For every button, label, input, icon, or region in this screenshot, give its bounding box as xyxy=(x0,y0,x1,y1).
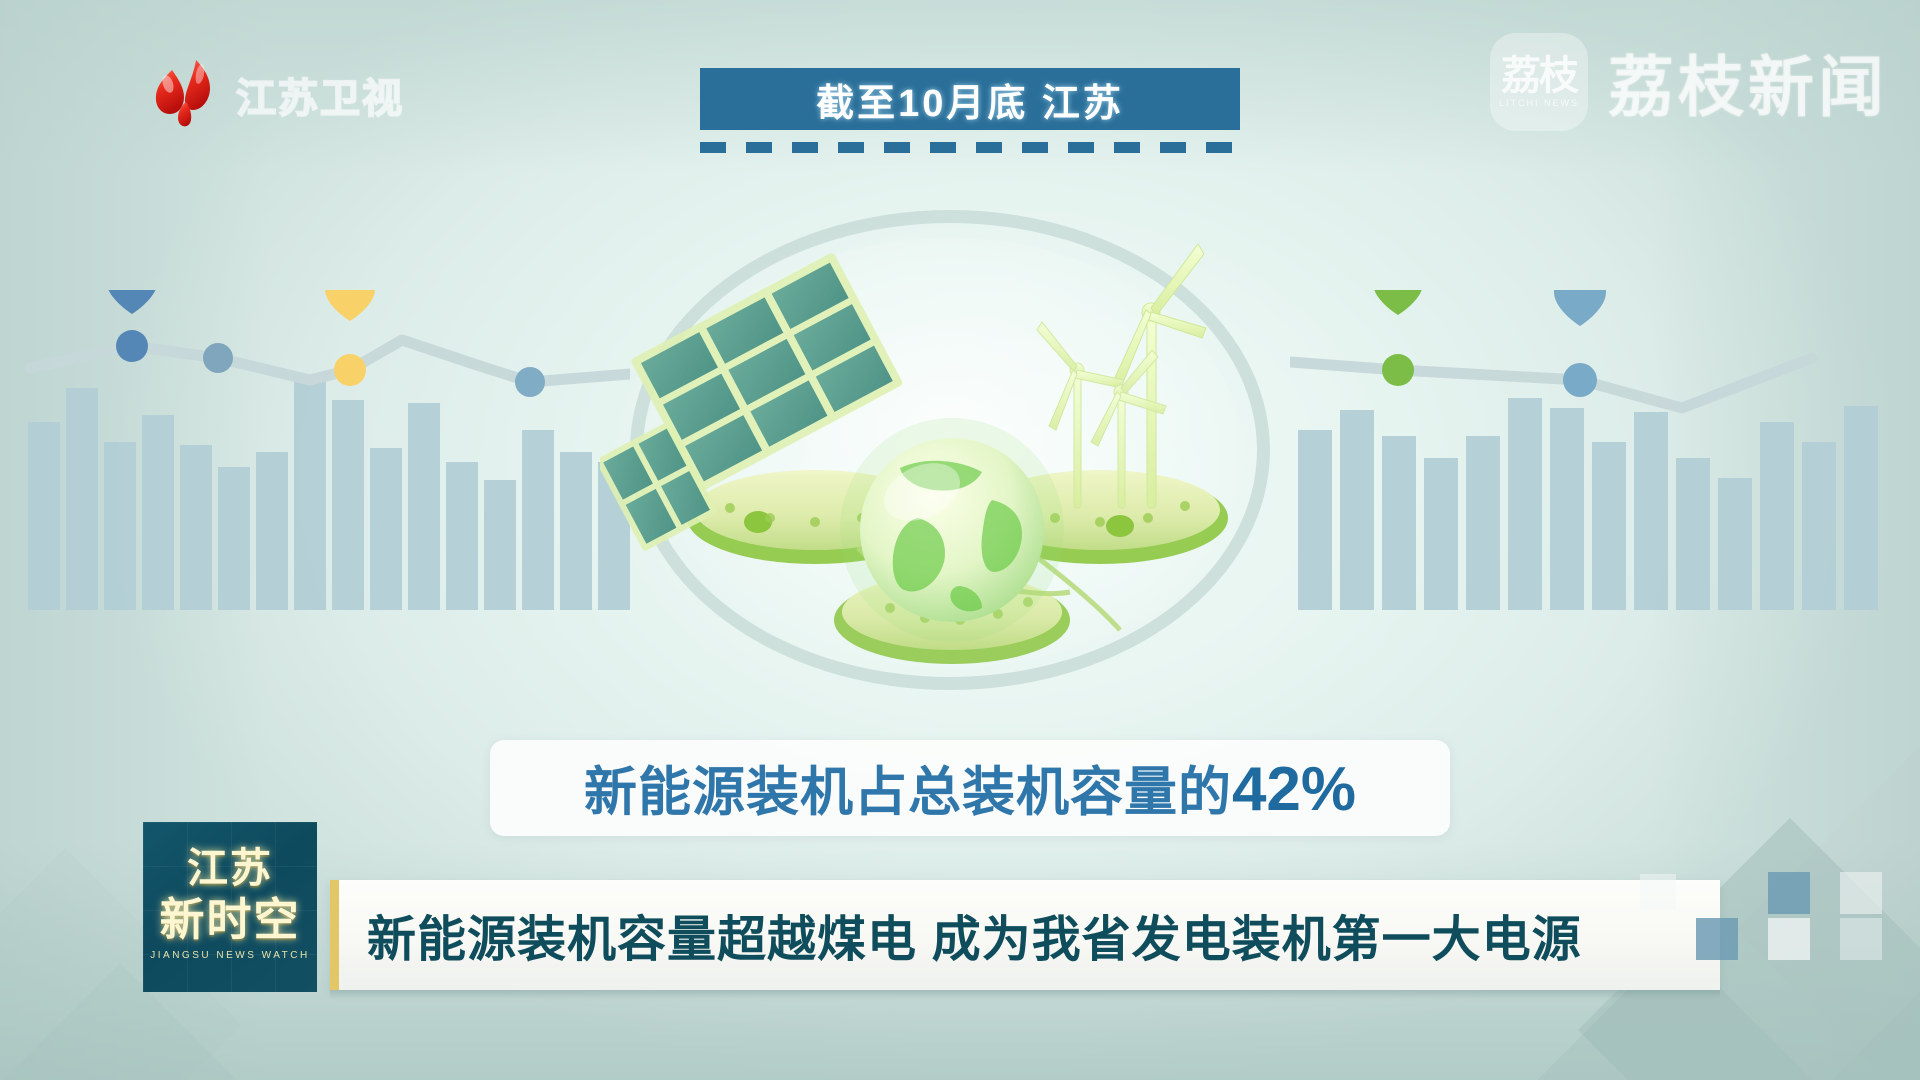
decorative-square xyxy=(1696,918,1738,960)
wind-turbines xyxy=(1037,244,1206,508)
left-chart-bars xyxy=(28,378,630,610)
decorative-square xyxy=(1768,872,1810,914)
news-banner-accent-bar xyxy=(330,880,339,990)
decorative-square xyxy=(1840,872,1882,914)
left-chart-svg xyxy=(20,290,630,620)
watermark-text: 荔枝新闻 xyxy=(1608,34,1888,130)
program-logo: 江苏 新时空 JIANGSU NEWS WATCH xyxy=(143,822,317,992)
statistic-pill: 新能源装机占总装机容量的42% xyxy=(490,740,1450,836)
top-banner: 截至10月底 江苏 xyxy=(700,68,1240,130)
top-banner-dashed-line xyxy=(700,142,1240,153)
broadcast-screen: 江苏卫视 截至10月底 江苏 荔枝 LITCHI NEWS 荔枝新闻 新能源装机… xyxy=(0,0,1920,1080)
statistic-prefix: 新能源装机占总装机容量的 xyxy=(584,750,1232,826)
news-banner-shadow xyxy=(330,990,1720,999)
left-chart-marker-teal xyxy=(515,367,545,397)
top-banner-text: 截至10月底 江苏 xyxy=(816,72,1124,127)
statistic-text: 新能源装机占总装机容量的42% xyxy=(584,750,1356,826)
jiangsu-tv-flame-logo-icon xyxy=(148,52,224,128)
left-bar-chart xyxy=(20,290,630,620)
channel-watermark: 荔枝 LITCHI NEWS 荔枝新闻 xyxy=(1490,30,1888,134)
litchi-badge-icon: 荔枝 LITCHI NEWS xyxy=(1490,33,1588,131)
left-chart-marker-steel xyxy=(203,343,233,373)
news-banner-headline: 新能源装机容量超越煤电 成为我省发电装机第一大电源 xyxy=(367,900,1582,971)
statistic-number: 42% xyxy=(1232,754,1356,825)
decorative-square xyxy=(1640,874,1676,910)
right-chart-svg xyxy=(1290,290,1910,620)
litchi-badge-cn: 荔枝 xyxy=(1501,56,1577,96)
right-chart-trend-line xyxy=(1290,358,1812,408)
broadcaster-logo: 江苏卫视 xyxy=(148,52,408,128)
program-logo-line1: 江苏 xyxy=(143,848,317,889)
right-chart-bars xyxy=(1298,398,1878,610)
program-logo-english: JIANGSU NEWS WATCH xyxy=(143,950,317,961)
decorative-square xyxy=(1768,918,1810,960)
broadcaster-name: 江苏卫视 xyxy=(236,66,404,124)
news-ticker-banner: 新能源装机容量超越煤电 成为我省发电装机第一大电源 xyxy=(330,880,1720,990)
litchi-badge-en: LITCHI NEWS xyxy=(1499,98,1579,108)
renewable-energy-illustration xyxy=(600,200,1300,700)
program-logo-line2: 新时空 xyxy=(143,897,317,942)
green-globe xyxy=(840,418,1064,642)
decorative-square xyxy=(1840,918,1882,960)
right-bar-chart xyxy=(1290,290,1910,620)
illustration-svg xyxy=(600,200,1300,700)
